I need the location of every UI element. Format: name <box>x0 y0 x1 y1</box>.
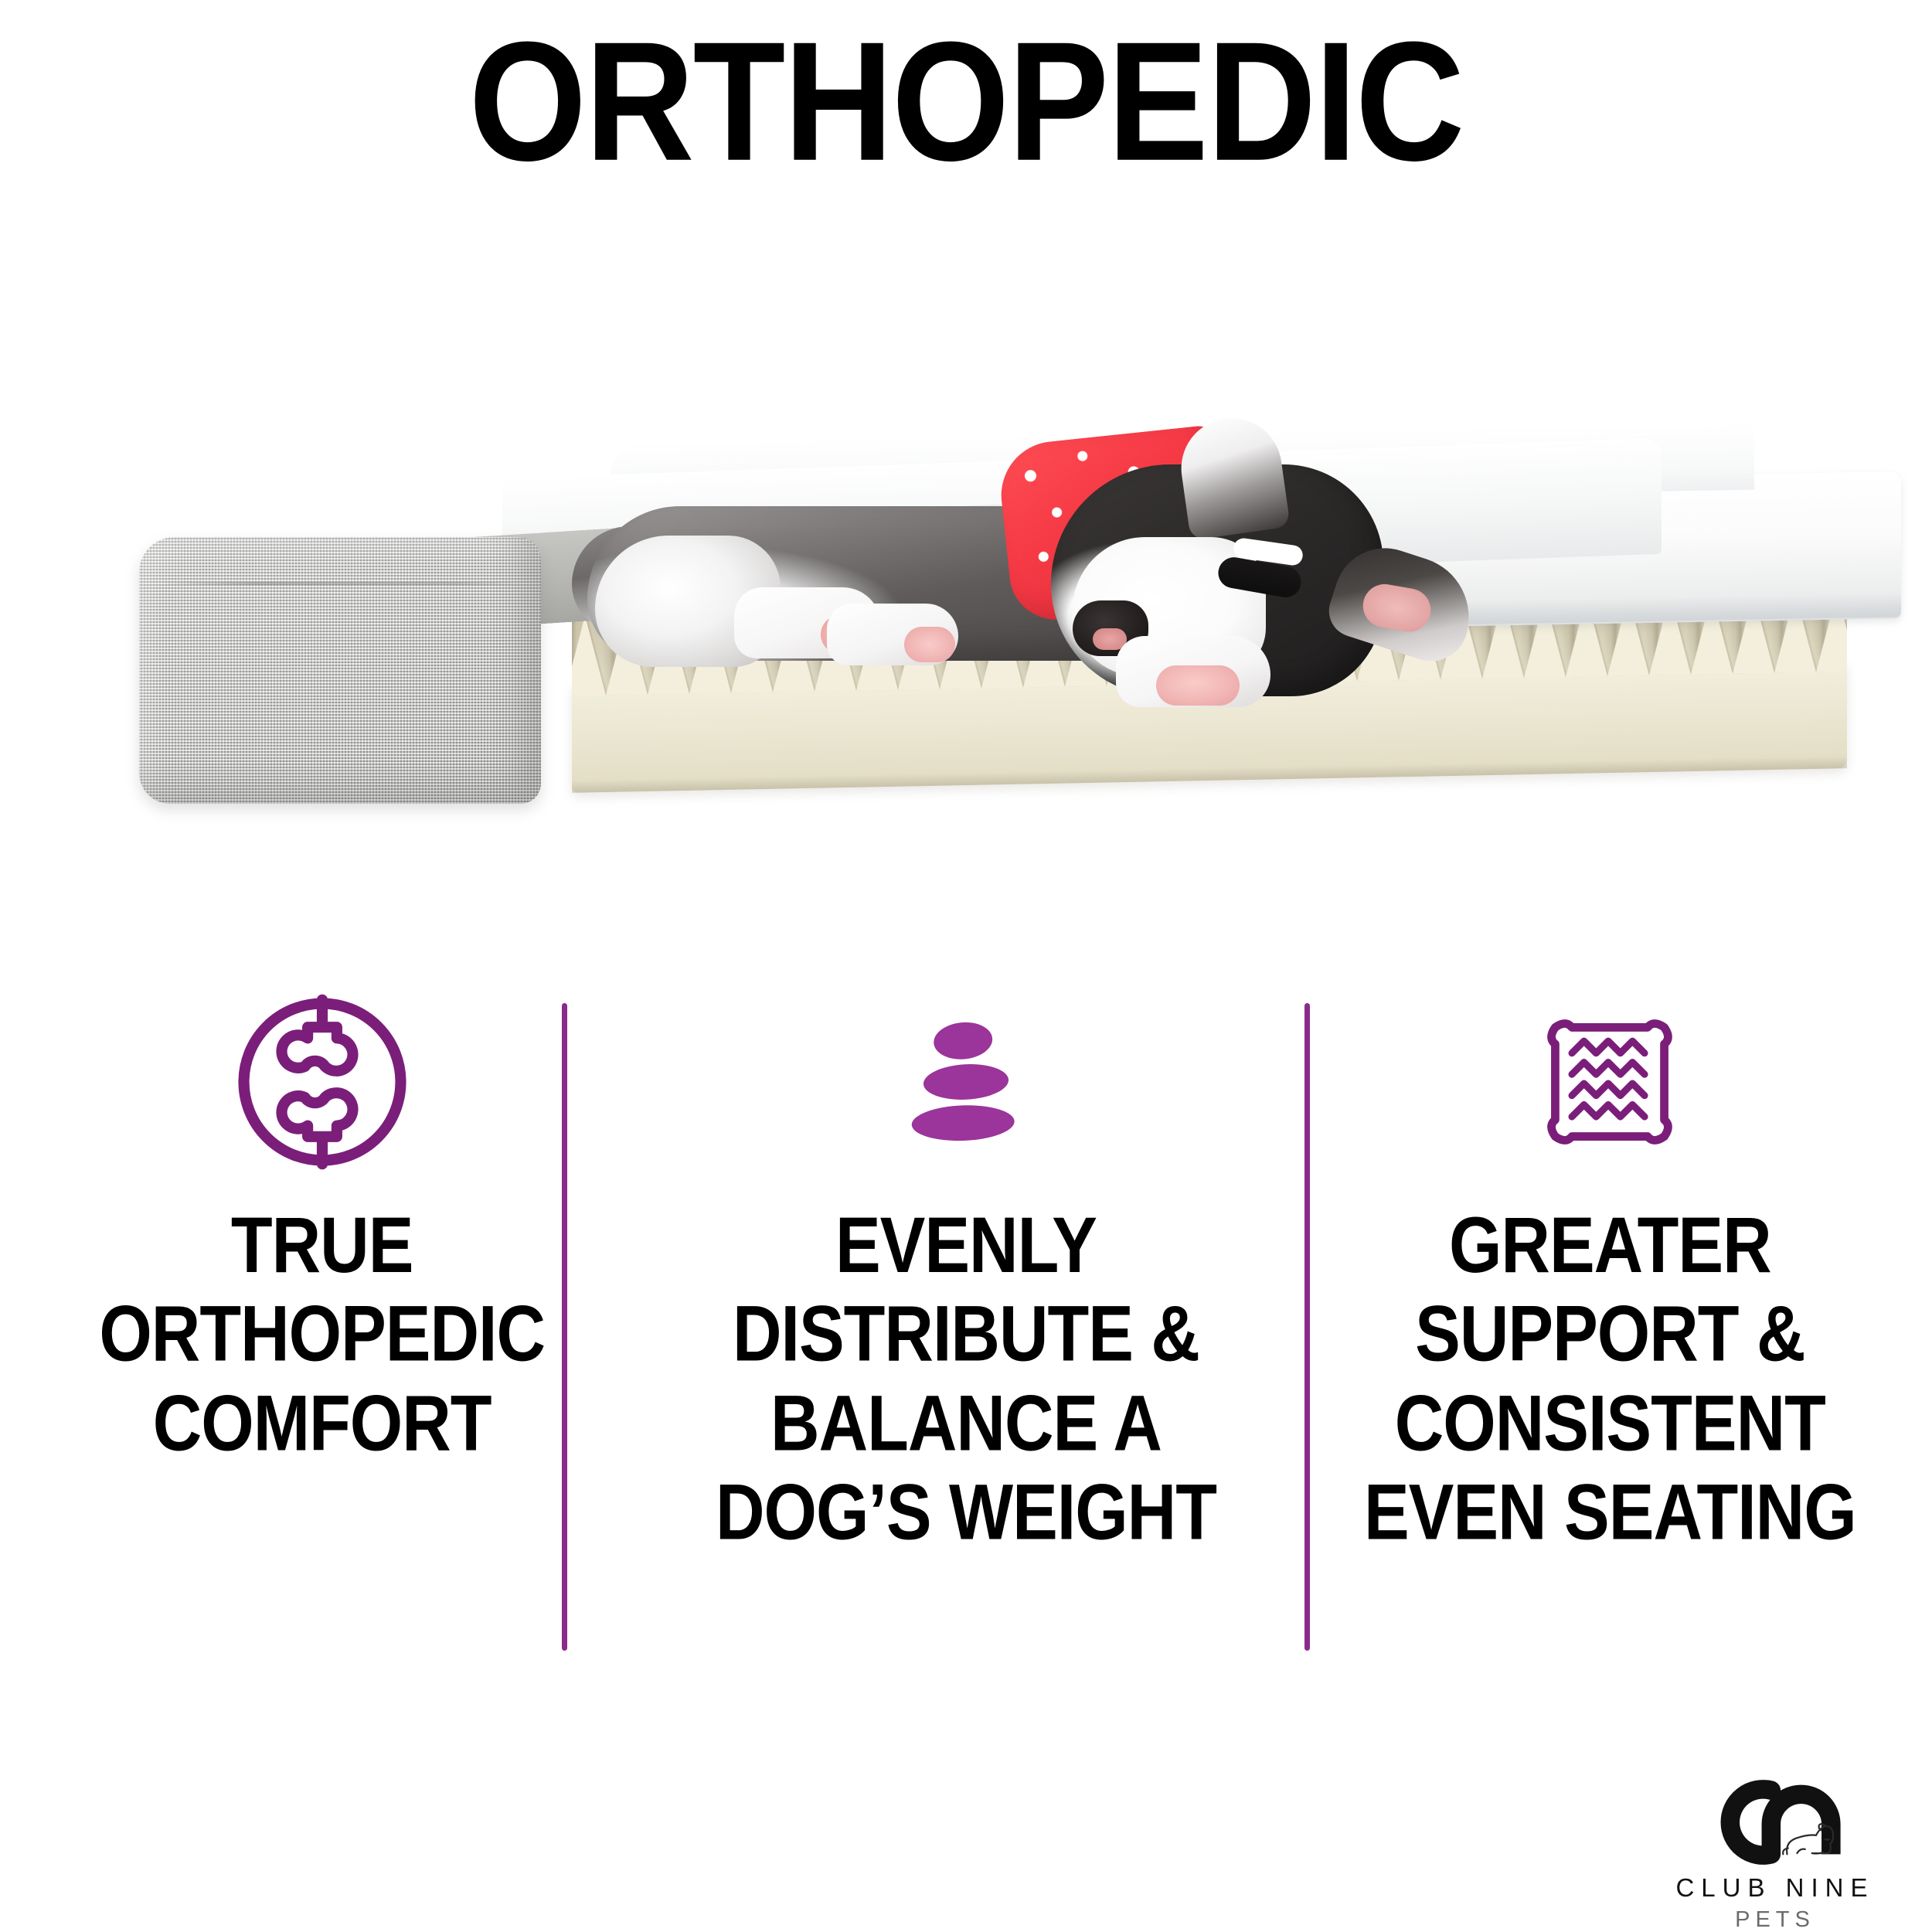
feature-column-weight-balance: EVENLY DISTRIBUTE & BALANCE A DOG’S WEIG… <box>644 970 1287 1665</box>
balance-stones-icon <box>893 985 1039 1179</box>
feature-columns: TRUE ORTHOPEDIC COMFORT EVENLY DISTRIBUT… <box>0 970 1932 1665</box>
feature-column-orthopedic-comfort: TRUE ORTHOPEDIC COMFORT <box>0 970 644 1665</box>
brand-logo[interactable]: CLUB NINE PETS <box>1652 1774 1898 1921</box>
feature-column-even-seating: GREATER SUPPORT & CONSISTENT EVEN SEATIN… <box>1288 970 1932 1665</box>
husky-puppy <box>572 390 1654 715</box>
gray-woven-bolster <box>139 537 541 804</box>
puppy-front-paw <box>1116 636 1270 707</box>
feature-label-weight-balance: EVENLY DISTRIBUTE & BALANCE A DOG’S WEIG… <box>705 1200 1227 1556</box>
hero-product-image <box>0 232 1932 966</box>
bone-joint-circle-icon <box>231 985 413 1179</box>
feature-label-orthopedic-comfort: TRUE ORTHOPEDIC COMFORT <box>88 1200 556 1468</box>
cn-monogram-with-dog-icon <box>1672 1774 1879 1870</box>
brand-name: CLUB NINE <box>1675 1875 1874 1900</box>
puppy-hind-paw-second <box>827 604 958 665</box>
chevron-pillow-icon <box>1534 985 1685 1179</box>
page-title: ORTHOPEDIC <box>0 17 1932 187</box>
dog-bed-product <box>139 390 1770 823</box>
feature-label-even-seating: GREATER SUPPORT & CONSISTENT EVEN SEATIN… <box>1353 1200 1867 1556</box>
brand-subtitle: PETS <box>1735 1909 1815 1931</box>
